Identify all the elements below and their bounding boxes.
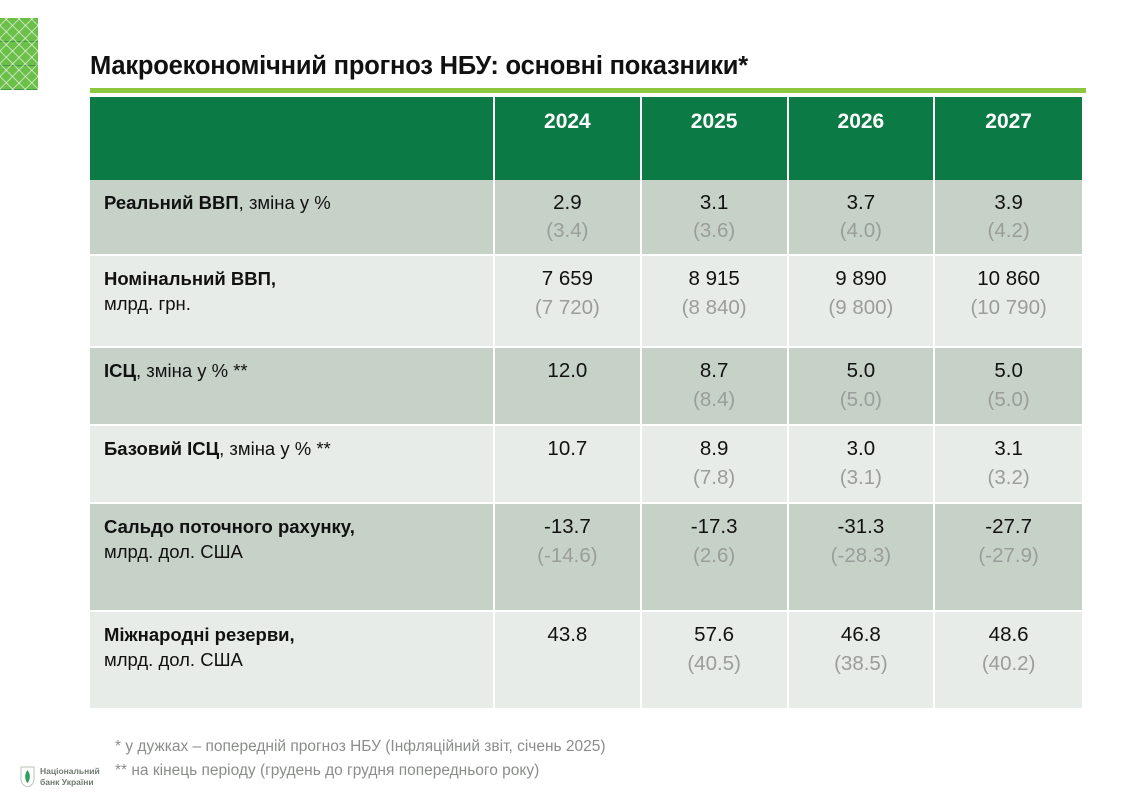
row-label-bold: Номінальний ВВП,	[104, 268, 276, 289]
cell-value: 10 860	[941, 266, 1076, 292]
cell-value: 3.9	[941, 190, 1076, 216]
row-label-core-cpi: Базовий ІСЦ, зміна у % **	[90, 426, 495, 504]
cell-real-gdp-2026: 3.7 (4.0)	[789, 180, 936, 256]
cell-nominal-gdp-2025: 8 915 (8 840)	[642, 256, 789, 348]
cell-value: 10.7	[501, 436, 634, 462]
table-header-row: 2024 2025 2026 2027	[90, 97, 1082, 180]
row-label-rest: , зміна у % **	[136, 360, 248, 381]
row-label-bold: ІСЦ	[104, 360, 136, 381]
cell-previous-value: (40.5)	[648, 651, 781, 677]
cell-value: 8.9	[648, 436, 781, 462]
cell-value: -17.3	[648, 514, 781, 540]
table-body: Реальний ВВП, зміна у % 2.9 (3.4) 3.1 (3…	[90, 180, 1082, 710]
table-row: Номінальний ВВП, млрд. грн. 7 659 (7 720…	[90, 256, 1082, 348]
cell-previous-value: (10 790)	[941, 295, 1076, 321]
page-title: Макроекономічний прогноз НБУ: основні по…	[90, 52, 748, 81]
cell-value: -13.7	[501, 514, 634, 540]
row-label-nominal-gdp: Номінальний ВВП, млрд. грн.	[90, 256, 495, 348]
cell-real-gdp-2025: 3.1 (3.6)	[642, 180, 789, 256]
cell-previous-value: (38.5)	[795, 651, 928, 677]
cell-current-account-2024: -13.7 (-14.6)	[495, 504, 642, 612]
cell-reserves-2024: 43.8	[495, 612, 642, 710]
decorative-pattern-strip	[0, 18, 38, 90]
nbu-shield-icon	[20, 766, 35, 787]
footnote-line-2: ** на кінець періоду (грудень до грудня …	[115, 759, 606, 783]
cell-previous-value: (-28.3)	[795, 543, 928, 569]
nbu-logo: Національний банк України	[20, 766, 100, 787]
cell-value: 3.1	[648, 190, 781, 216]
row-label-real-gdp: Реальний ВВП, зміна у %	[90, 180, 495, 256]
cell-cpi-2024: 12.0	[495, 348, 642, 426]
cell-value: 48.6	[941, 622, 1076, 648]
table-row: ІСЦ, зміна у % ** 12.0 8.7 (8.4) 5.0 (5.…	[90, 348, 1082, 426]
row-label-units: млрд. дол. США	[104, 540, 483, 565]
cell-current-account-2025: -17.3 (2.6)	[642, 504, 789, 612]
macro-forecast-table: 2024 2025 2026 2027 Реальний ВВП, зміна …	[90, 97, 1082, 710]
title-underline-rule	[90, 88, 1086, 93]
cell-cpi-2025: 8.7 (8.4)	[642, 348, 789, 426]
cell-current-account-2027: -27.7 (-27.9)	[935, 504, 1082, 612]
cell-value: -31.3	[795, 514, 928, 540]
cell-previous-value: (-27.9)	[941, 543, 1076, 569]
row-label-bold: Міжнародні резерви,	[104, 624, 295, 645]
cell-previous-value: (4.0)	[795, 218, 928, 244]
header-cell-2024: 2024	[495, 97, 642, 180]
nbu-logo-text: Національний банк України	[40, 766, 100, 787]
footnote-line-1: * у дужках – попередній прогноз НБУ (Інф…	[115, 735, 606, 759]
cell-reserves-2027: 48.6 (40.2)	[935, 612, 1082, 710]
cell-previous-value: (8.4)	[648, 387, 781, 413]
cell-previous-value: (7 720)	[501, 295, 634, 321]
cell-value: 57.6	[648, 622, 781, 648]
cell-previous-value: (3.1)	[795, 465, 928, 491]
table-row: Реальний ВВП, зміна у % 2.9 (3.4) 3.1 (3…	[90, 180, 1082, 256]
table-row: Міжнародні резерви, млрд. дол. США 43.8 …	[90, 612, 1082, 710]
header-cell-2026: 2026	[789, 97, 936, 180]
row-label-current-account: Сальдо поточного рахунку, млрд. дол. США	[90, 504, 495, 612]
cell-real-gdp-2027: 3.9 (4.2)	[935, 180, 1082, 256]
cell-value: 5.0	[795, 358, 928, 384]
row-label-bold: Базовий ІСЦ	[104, 438, 219, 459]
cell-core-cpi-2027: 3.1 (3.2)	[935, 426, 1082, 504]
row-label-rest: , зміна у %	[239, 192, 331, 213]
cell-value: 8 915	[648, 266, 781, 292]
cell-previous-value: (3.2)	[941, 465, 1076, 491]
cell-value: 5.0	[941, 358, 1076, 384]
cell-value: 3.0	[795, 436, 928, 462]
cell-core-cpi-2025: 8.9 (7.8)	[642, 426, 789, 504]
cell-previous-value: (8 840)	[648, 295, 781, 321]
cell-previous-value: (3.4)	[501, 218, 634, 244]
cell-real-gdp-2024: 2.9 (3.4)	[495, 180, 642, 256]
row-label-cpi: ІСЦ, зміна у % **	[90, 348, 495, 426]
row-label-units: млрд. дол. США	[104, 648, 483, 673]
cell-core-cpi-2024: 10.7	[495, 426, 642, 504]
row-label-bold: Сальдо поточного рахунку,	[104, 516, 355, 537]
cell-value: 3.1	[941, 436, 1076, 462]
cell-previous-value: (5.0)	[795, 387, 928, 413]
cell-previous-value: (3.6)	[648, 218, 781, 244]
row-label-bold: Реальний ВВП	[104, 192, 239, 213]
cell-reserves-2026: 46.8 (38.5)	[789, 612, 936, 710]
cell-value: -27.7	[941, 514, 1076, 540]
cell-core-cpi-2026: 3.0 (3.1)	[789, 426, 936, 504]
table-header: 2024 2025 2026 2027	[90, 97, 1082, 180]
table-row: Базовий ІСЦ, зміна у % ** 10.7 8.9 (7.8)…	[90, 426, 1082, 504]
header-cell-2025: 2025	[642, 97, 789, 180]
nbu-logo-line-2: банк України	[40, 777, 94, 787]
cell-value: 9 890	[795, 266, 928, 292]
row-label-units: млрд. грн.	[104, 292, 483, 317]
cell-previous-value: (5.0)	[941, 387, 1076, 413]
cell-value: 8.7	[648, 358, 781, 384]
footnotes: * у дужках – попередній прогноз НБУ (Інф…	[115, 735, 606, 783]
cell-value: 43.8	[501, 622, 634, 648]
row-label-rest: , зміна у % **	[219, 438, 331, 459]
cell-nominal-gdp-2027: 10 860 (10 790)	[935, 256, 1082, 348]
cell-value: 2.9	[501, 190, 634, 216]
cell-value: 7 659	[501, 266, 634, 292]
cell-cpi-2027: 5.0 (5.0)	[935, 348, 1082, 426]
cell-nominal-gdp-2026: 9 890 (9 800)	[789, 256, 936, 348]
cell-value: 12.0	[501, 358, 634, 384]
cell-value: 46.8	[795, 622, 928, 648]
cell-current-account-2026: -31.3 (-28.3)	[789, 504, 936, 612]
cell-previous-value: (2.6)	[648, 543, 781, 569]
cell-previous-value: (7.8)	[648, 465, 781, 491]
nbu-logo-line-1: Національний	[40, 766, 100, 776]
cell-previous-value: (4.2)	[941, 218, 1076, 244]
table-row: Сальдо поточного рахунку, млрд. дол. США…	[90, 504, 1082, 612]
cell-reserves-2025: 57.6 (40.5)	[642, 612, 789, 710]
header-cell-indicator	[90, 97, 495, 180]
cell-value: 3.7	[795, 190, 928, 216]
cell-previous-value: (-14.6)	[501, 543, 634, 569]
header-cell-2027: 2027	[935, 97, 1082, 180]
cell-nominal-gdp-2024: 7 659 (7 720)	[495, 256, 642, 348]
row-label-international-reserves: Міжнародні резерви, млрд. дол. США	[90, 612, 495, 710]
cell-previous-value: (9 800)	[795, 295, 928, 321]
cell-cpi-2026: 5.0 (5.0)	[789, 348, 936, 426]
cell-previous-value: (40.2)	[941, 651, 1076, 677]
